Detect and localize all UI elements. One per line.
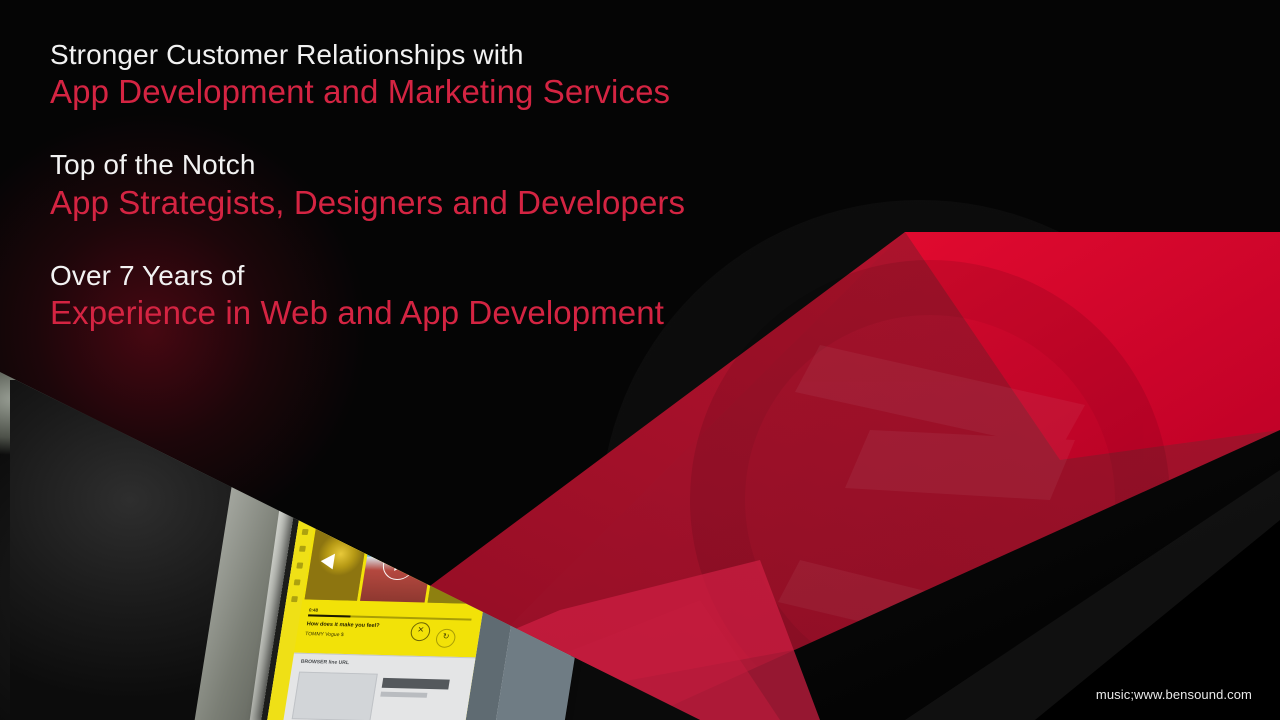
browser-pane: BROWSER line URL: [282, 653, 475, 720]
headline-block-1: Stronger Customer Relationships with App…: [50, 38, 870, 112]
rail-dot[interactable]: [296, 563, 303, 569]
track-artist: TOMMY Vogue $: [305, 631, 344, 638]
browser-title: BROWSER line URL: [300, 659, 349, 666]
headline-eyebrow-2: Top of the Notch: [50, 148, 870, 182]
headline-eyebrow-1: Stronger Customer Relationships with: [50, 38, 870, 72]
browser-card-bar: [382, 678, 450, 690]
headline-eyebrow-3: Over 7 Years of: [50, 259, 870, 293]
headline-block-2: Top of the Notch App Strategists, Design…: [50, 148, 870, 222]
slide-canvas: MUSIC PLAYER: [0, 0, 1280, 720]
browser-card-line: [380, 692, 427, 698]
browser-card-preview[interactable]: [292, 672, 378, 720]
rail-dot[interactable]: [294, 579, 301, 585]
music-credit: music;www.bensound.com: [1096, 687, 1252, 702]
headline-block-3: Over 7 Years of Experience in Web and Ap…: [50, 259, 870, 333]
headline-main-1: App Development and Marketing Services: [50, 72, 870, 112]
shuffle-glyph: ✕: [411, 626, 429, 634]
rail-dot[interactable]: [302, 529, 309, 535]
headline-main-2: App Strategists, Designers and Developer…: [50, 183, 870, 223]
skip-previous-icon[interactable]: [319, 553, 335, 569]
rail-dot[interactable]: [299, 546, 306, 552]
repeat-icon[interactable]: ↻: [435, 629, 457, 648]
headline-stack: Stronger Customer Relationships with App…: [50, 38, 870, 333]
rail-dot[interactable]: [291, 596, 298, 602]
shuffle-icon[interactable]: ✕: [409, 622, 431, 641]
repeat-glyph: ↻: [437, 633, 455, 641]
track-name: How does it make you feel?: [306, 621, 380, 629]
headline-main-3: Experience in Web and App Development: [50, 293, 870, 333]
progress-area[interactable]: 0:48: [308, 607, 473, 620]
progress-fill: [308, 614, 351, 617]
